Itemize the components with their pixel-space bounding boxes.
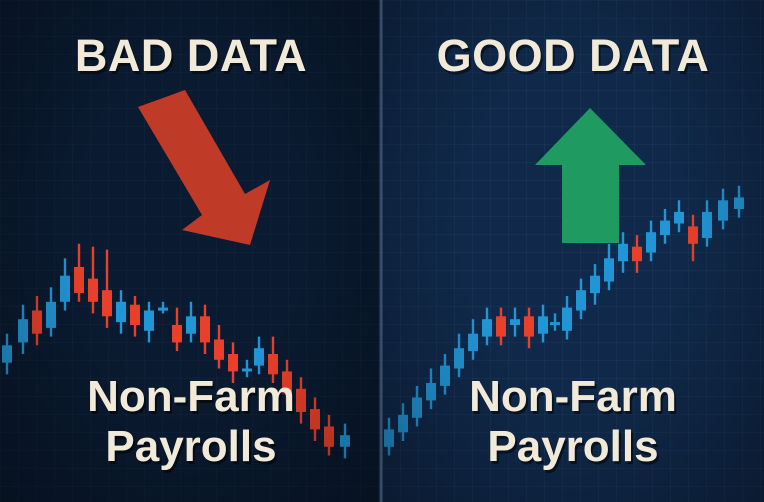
footer-line-2-bad: Payrolls — [0, 422, 382, 472]
footer-line-2-good: Payrolls — [382, 422, 764, 472]
panel-bad-data: BAD DATA Non-Farm Payrolls — [0, 0, 382, 502]
panel-divider — [379, 0, 383, 502]
headline-bad-data: BAD DATA — [0, 30, 382, 82]
footer-label-good: Non-Farm Payrolls — [382, 372, 764, 472]
footer-line-1-good: Non-Farm — [382, 372, 764, 422]
headline-good-data: GOOD DATA — [382, 30, 764, 82]
promo-graphic: BAD DATA Non-Farm Payrolls GOOD DATA Non… — [0, 0, 764, 502]
panel-good-data: GOOD DATA Non-Farm Payrolls — [382, 0, 764, 502]
footer-line-1-bad: Non-Farm — [0, 372, 382, 422]
footer-label-bad: Non-Farm Payrolls — [0, 372, 382, 472]
